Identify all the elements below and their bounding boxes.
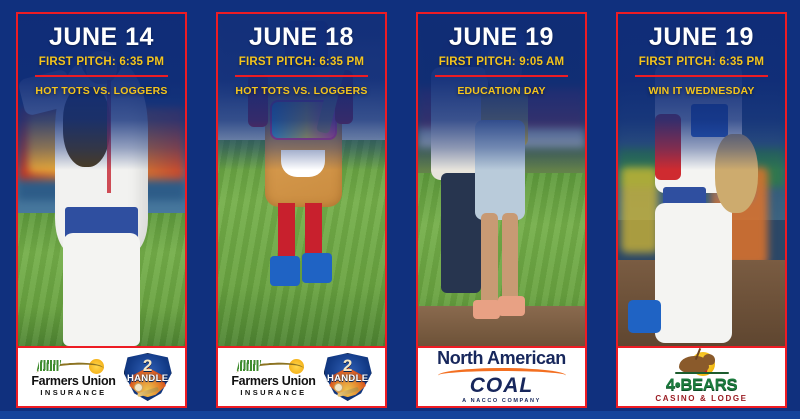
photo-child-on-field: JUNE 19 FIRST PITCH: 9:05 AM EDUCATION D… [418, 14, 585, 346]
four-bears-name: 4•BEARS [655, 376, 747, 393]
farmers-union-name: Farmers Union [31, 375, 115, 388]
bottom-strip [0, 411, 800, 419]
mascot-shoe-right [302, 253, 332, 283]
first-pitch-time: FIRST PITCH: 6:35 PM [24, 56, 179, 68]
promo-title: HOT TOTS VS. LOGGERS [24, 85, 179, 97]
first-pitch-time: FIRST PITCH: 9:05 AM [424, 56, 579, 68]
card-frame: JUNE 19 FIRST PITCH: 9:05 AM EDUCATION D… [416, 12, 587, 408]
field-rows-icon [37, 360, 62, 371]
north-american-coal-logo[interactable]: North American COAL A NACCO COMPANY [424, 349, 579, 405]
header-divider [235, 75, 368, 77]
game-date: JUNE 18 [224, 24, 379, 50]
two-handle-word: HANDLE [126, 373, 170, 384]
card-header: JUNE 19 FIRST PITCH: 6:35 PM WIN IT WEDN… [618, 14, 785, 97]
mascot-shoe-left [270, 256, 300, 286]
player-pants [63, 233, 140, 346]
baseball-icon [334, 383, 343, 392]
child-sandal-right [498, 296, 525, 316]
sponsor-panel: Farmers Union INSURANCE 2 HANDLE [218, 346, 385, 406]
farmers-union-name: Farmers Union [231, 375, 315, 388]
photo-baseball-player-fielding: JUNE 14 FIRST PITCH: 6:35 PM HOT TOTS VS… [18, 14, 185, 346]
promo-card-june-19-win-it-wednesday[interactable]: JUNE 19 FIRST PITCH: 6:35 PM WIN IT WEDN… [600, 0, 800, 419]
sponsor-panel: Farmers Union INSURANCE 2 HANDLE [18, 346, 185, 406]
mascot-leg-left [278, 203, 295, 263]
promo-card-june-18[interactable]: JUNE 18 FIRST PITCH: 6:35 PM HOT TOTS VS… [200, 0, 400, 419]
north-american-text: North American [424, 349, 579, 367]
farmers-union-subtitle: INSURANCE [31, 389, 115, 397]
base-line [675, 372, 729, 374]
four-bears-casino-logo[interactable]: 4•BEARS CASINO & LODGE [655, 351, 747, 403]
game-date: JUNE 19 [624, 24, 779, 50]
card-frame: JUNE 14 FIRST PITCH: 6:35 PM HOT TOTS VS… [16, 12, 187, 408]
card-header: JUNE 14 FIRST PITCH: 6:35 PM HOT TOTS VS… [18, 14, 185, 97]
baseball-icon [134, 383, 143, 392]
sponsor-panel: North American COAL A NACCO COMPANY [418, 346, 585, 406]
header-divider [435, 75, 568, 77]
two-handle-logo[interactable]: 2 HANDLE [124, 353, 172, 401]
game-date: JUNE 19 [424, 24, 579, 50]
promo-title: HOT TOTS VS. LOGGERS [224, 85, 379, 97]
card-frame: JUNE 18 FIRST PITCH: 6:35 PM HOT TOTS VS… [216, 12, 387, 408]
player-cleat [628, 300, 661, 333]
nacco-company-subtitle: A NACCO COMPANY [424, 399, 579, 405]
card-header: JUNE 19 FIRST PITCH: 9:05 AM EDUCATION D… [418, 14, 585, 97]
child-sandal-left [473, 300, 500, 320]
farmers-union-insurance-logo[interactable]: Farmers Union INSURANCE [231, 358, 315, 397]
farmers-union-insurance-logo[interactable]: Farmers Union INSURANCE [31, 358, 115, 397]
promo-schedule-board: JUNE 14 FIRST PITCH: 6:35 PM HOT TOTS VS… [0, 0, 800, 419]
field-rows-icon [237, 360, 262, 371]
two-handle-word: HANDLE [326, 373, 370, 384]
bear-sun-icon [673, 351, 731, 377]
child-leg-left [481, 213, 498, 306]
photo-tater-tot-mascot: JUNE 18 FIRST PITCH: 6:35 PM HOT TOTS VS… [218, 14, 385, 346]
farmers-union-sun-field-icon [236, 358, 310, 373]
promo-title: EDUCATION DAY [424, 85, 579, 97]
header-divider [635, 75, 768, 77]
first-pitch-time: FIRST PITCH: 6:35 PM [624, 56, 779, 68]
promo-card-june-19-education-day[interactable]: JUNE 19 FIRST PITCH: 9:05 AM EDUCATION D… [400, 0, 600, 419]
promo-card-june-14[interactable]: JUNE 14 FIRST PITCH: 6:35 PM HOT TOTS VS… [0, 0, 200, 419]
header-divider [35, 75, 168, 77]
player-pants [655, 203, 732, 342]
child-leg-right [502, 213, 519, 306]
casino-lodge-subtitle: CASINO & LODGE [655, 395, 747, 403]
bear-head-icon [703, 354, 715, 365]
coal-text: COAL [424, 375, 579, 396]
card-header: JUNE 18 FIRST PITCH: 6:35 PM HOT TOTS VS… [218, 14, 385, 97]
farmers-union-sun-field-icon [36, 358, 110, 373]
promo-title: WIN IT WEDNESDAY [624, 85, 779, 97]
card-frame: JUNE 19 FIRST PITCH: 6:35 PM WIN IT WEDN… [616, 12, 787, 408]
first-pitch-time: FIRST PITCH: 6:35 PM [224, 56, 379, 68]
sponsor-panel: 4•BEARS CASINO & LODGE [618, 346, 785, 406]
two-handle-logo[interactable]: 2 HANDLE [324, 353, 372, 401]
farmers-union-subtitle: INSURANCE [231, 389, 315, 397]
game-date: JUNE 14 [24, 24, 179, 50]
photo-player-jogging: JUNE 19 FIRST PITCH: 6:35 PM WIN IT WEDN… [618, 14, 785, 346]
